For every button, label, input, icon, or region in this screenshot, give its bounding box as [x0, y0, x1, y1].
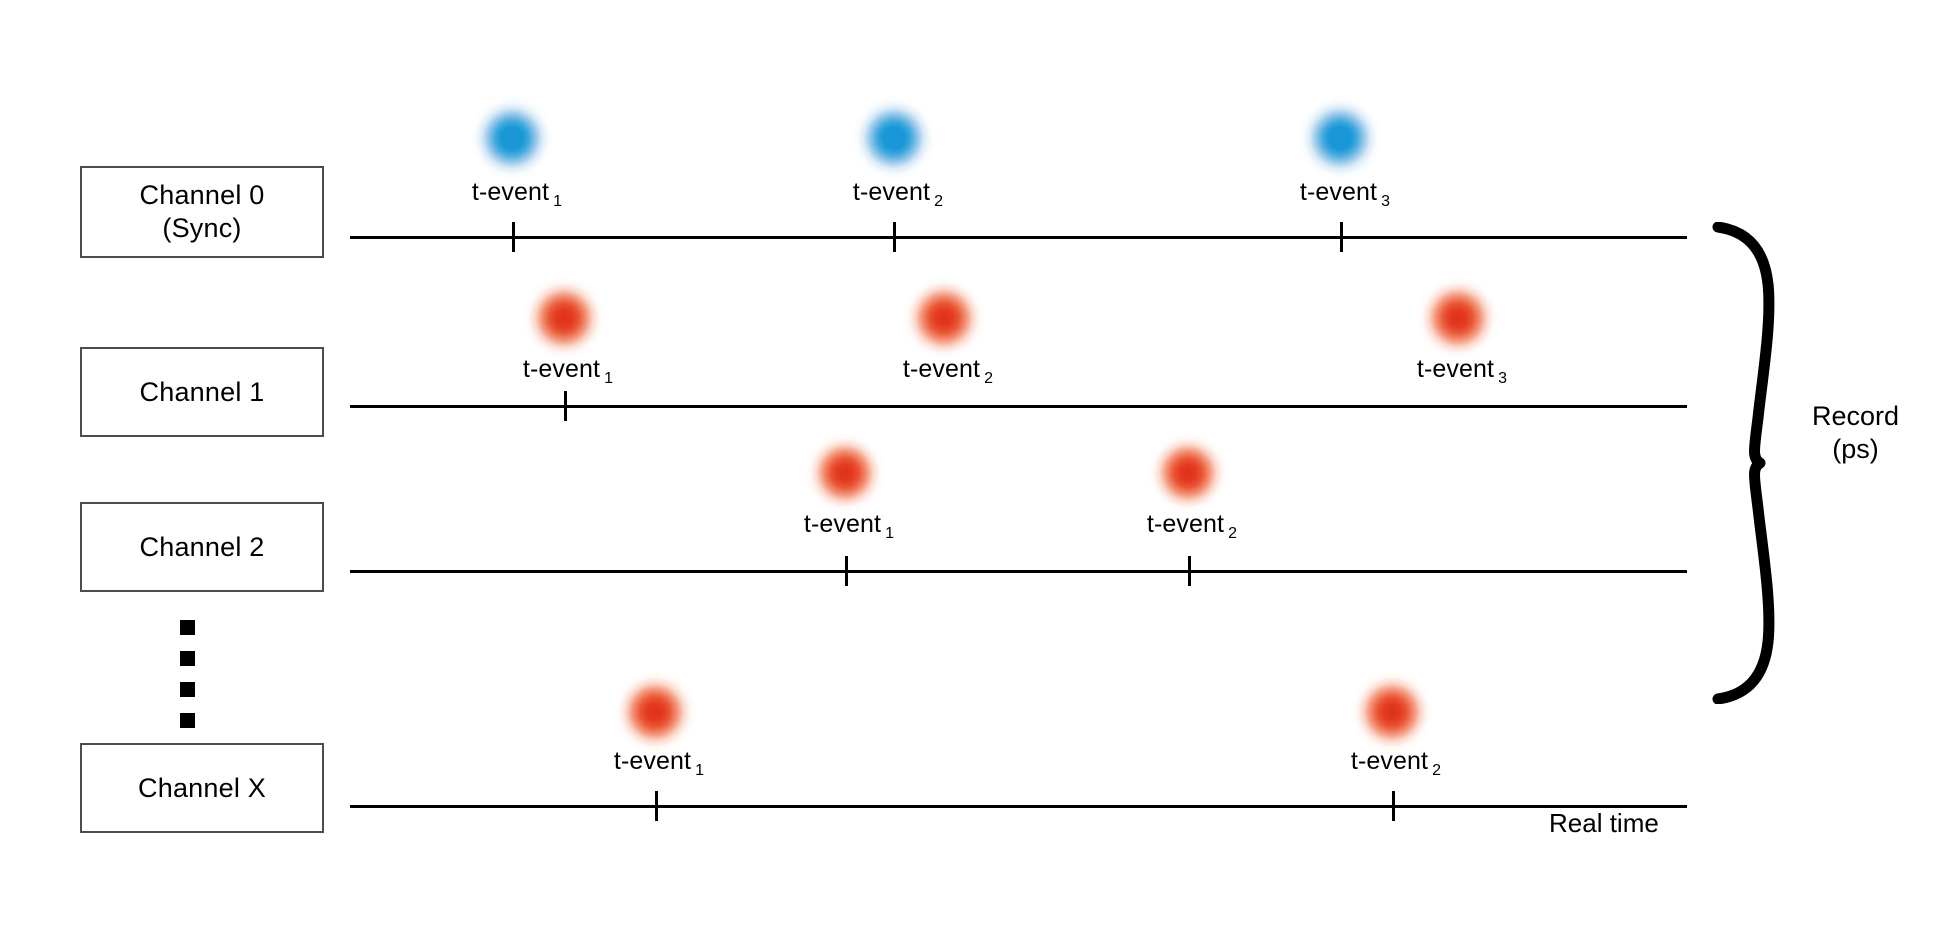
- tick-channel-1-event-1: [564, 391, 567, 421]
- tick-channel-2-event-1: [845, 556, 848, 586]
- record-brace-icon: [1712, 222, 1802, 704]
- event-label-text: t-event: [804, 510, 881, 538]
- event-label-subscript: 1: [881, 525, 894, 542]
- photon-blob-channel-x-event-2: [1351, 671, 1433, 753]
- event-label-channel-0-event-2: t-event2: [853, 178, 943, 211]
- event-label-text: t-event: [1147, 510, 1224, 538]
- tick-channel-x-event-2: [1392, 791, 1395, 821]
- event-label-text: t-event: [1417, 355, 1494, 383]
- event-label-text: t-event: [853, 178, 930, 206]
- real-time-axis-label: Real time: [1549, 808, 1659, 839]
- event-label-subscript: 2: [980, 370, 993, 387]
- event-label-channel-0-event-3: t-event3: [1300, 178, 1390, 211]
- event-label-channel-2-event-1: t-event1: [804, 510, 894, 543]
- photon-blob-channel-0-event-2: [852, 96, 936, 180]
- timeline-axis-channel-x: [350, 805, 1687, 808]
- event-label-text: t-event: [1300, 178, 1377, 206]
- record-label-line-1: Record: [1812, 400, 1899, 433]
- event-label-subscript: 2: [930, 193, 943, 210]
- vertical-ellipsis-icon: [180, 620, 195, 744]
- photon-blob-channel-x-event-1: [614, 671, 696, 753]
- event-label-subscript: 2: [1428, 762, 1441, 779]
- event-label-subscript: 2: [1224, 525, 1237, 542]
- channel-box-channel-1: Channel 1: [80, 347, 324, 437]
- photon-blob-channel-0-event-1: [470, 96, 554, 180]
- record-label-line-2: (ps): [1812, 433, 1899, 466]
- photon-blob-channel-2-event-2: [1148, 433, 1228, 513]
- tick-channel-0-event-1: [512, 222, 515, 252]
- photon-blob-channel-1-event-1: [523, 277, 605, 359]
- event-label-text: t-event: [1351, 747, 1428, 775]
- timeline-axis-channel-1: [350, 405, 1687, 408]
- record-bracket-label: Record (ps): [1812, 400, 1899, 466]
- tick-channel-x-event-1: [655, 791, 658, 821]
- ellipsis-dot: [180, 713, 195, 728]
- channel-box-channel-0: Channel 0 (Sync): [80, 166, 324, 258]
- event-label-channel-x-event-1: t-event1: [614, 747, 704, 780]
- ellipsis-dot: [180, 682, 195, 697]
- event-label-channel-1-event-3: t-event3: [1417, 355, 1507, 388]
- channel-x-label-line-1: Channel X: [138, 772, 266, 805]
- diagram-canvas: Channel 0 (Sync) Channel 1 Channel 2 Cha…: [0, 0, 1933, 925]
- ellipsis-dot: [180, 651, 195, 666]
- event-label-channel-1-event-2: t-event2: [903, 355, 993, 388]
- event-label-channel-x-event-2: t-event2: [1351, 747, 1441, 780]
- photon-blob-channel-0-event-3: [1298, 96, 1382, 180]
- tick-channel-0-event-2: [893, 222, 896, 252]
- timeline-axis-channel-2: [350, 570, 1687, 573]
- event-label-channel-2-event-2: t-event2: [1147, 510, 1237, 543]
- tick-channel-0-event-3: [1340, 222, 1343, 252]
- event-label-channel-0-event-1: t-event1: [472, 178, 562, 211]
- event-label-text: t-event: [472, 178, 549, 206]
- event-label-subscript: 3: [1494, 370, 1507, 387]
- channel-box-channel-x: Channel X: [80, 743, 324, 833]
- channel-1-label-line-1: Channel 1: [140, 376, 265, 409]
- event-label-subscript: 1: [549, 193, 562, 210]
- event-label-subscript: 1: [691, 762, 704, 779]
- photon-blob-channel-1-event-2: [903, 277, 985, 359]
- channel-0-label-line-1: Channel 0: [140, 179, 265, 212]
- timeline-axis-channel-0: [350, 236, 1687, 239]
- event-label-text: t-event: [903, 355, 980, 383]
- event-label-channel-1-event-1: t-event1: [523, 355, 613, 388]
- channel-2-label-line-1: Channel 2: [140, 531, 265, 564]
- event-label-subscript: 1: [600, 370, 613, 387]
- event-label-text: t-event: [614, 747, 691, 775]
- tick-channel-2-event-2: [1188, 556, 1191, 586]
- event-label-subscript: 3: [1377, 193, 1390, 210]
- photon-blob-channel-1-event-3: [1417, 277, 1499, 359]
- ellipsis-dot: [180, 620, 195, 635]
- channel-0-label-line-2: (Sync): [162, 212, 241, 245]
- channel-box-channel-2: Channel 2: [80, 502, 324, 592]
- event-label-text: t-event: [523, 355, 600, 383]
- photon-blob-channel-2-event-1: [805, 433, 885, 513]
